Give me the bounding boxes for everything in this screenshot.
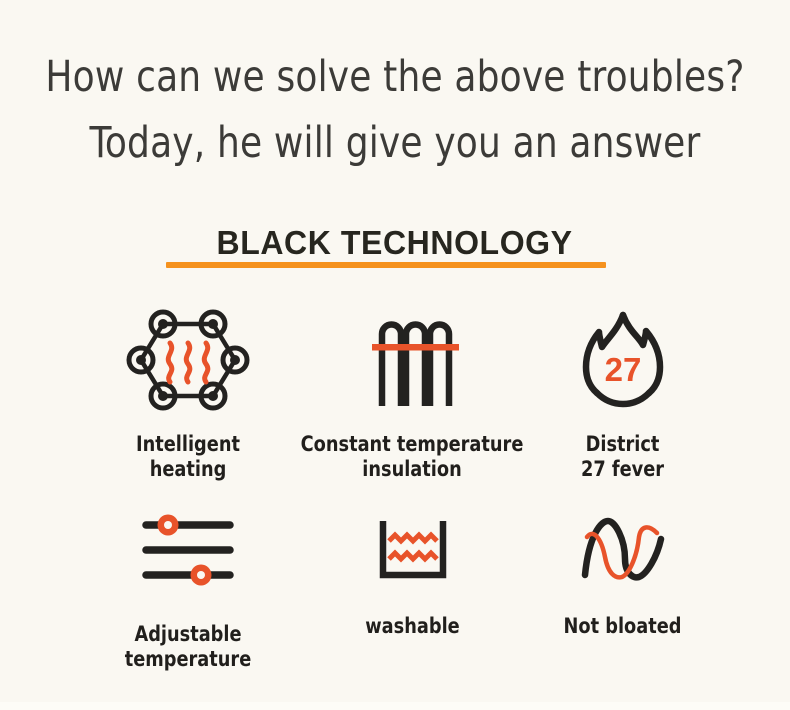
feature-constant-temperature-insulation: Constant temperature insulation bbox=[282, 300, 542, 482]
feature-label-line-2: insulation bbox=[290, 457, 534, 482]
feature-label: Not bloated bbox=[545, 614, 700, 639]
slider-knob-bottom bbox=[191, 565, 212, 586]
wave-curves-icon bbox=[545, 500, 700, 600]
feature-label-line-2: temperature bbox=[113, 647, 263, 672]
page-headline: How can we solve the above troubles? Tod… bbox=[28, 44, 763, 176]
promo-page: How can we solve the above troubles? Tod… bbox=[0, 0, 790, 710]
feature-label-line-1: Constant temperature bbox=[290, 432, 534, 457]
feature-label: Intelligent heating bbox=[108, 432, 268, 482]
feature-washable: washable bbox=[300, 500, 525, 639]
feature-row-2: Adjustable temperature bbox=[0, 500, 790, 695]
feature-label-line-1: Intelligent bbox=[113, 432, 263, 457]
feature-not-bloated: Not bloated bbox=[545, 500, 700, 639]
radiator-coil-icon bbox=[282, 300, 542, 420]
feature-label: Adjustable temperature bbox=[108, 622, 268, 672]
headline-line-2: Today, he will give you an answer bbox=[28, 110, 763, 176]
slider-knob-top bbox=[158, 515, 179, 536]
bottom-strip bbox=[0, 702, 790, 710]
feature-label: washable bbox=[300, 614, 525, 639]
feature-label: District 27 fever bbox=[545, 432, 700, 482]
wash-basin-icon bbox=[300, 500, 525, 600]
section-title-underline bbox=[166, 262, 606, 268]
section-title-container: BLACK TECHNOLOGY bbox=[0, 224, 790, 262]
feature-district-27-fever: 27 District 27 fever bbox=[545, 300, 700, 482]
section-title: BLACK TECHNOLOGY bbox=[217, 224, 573, 262]
feature-label-line-1: District bbox=[550, 432, 696, 457]
feature-row-1: Intelligent heating bbox=[0, 300, 790, 500]
slider-controls-icon bbox=[108, 500, 268, 600]
hexagon-heating-icon bbox=[108, 300, 268, 420]
feature-intelligent-heating: Intelligent heating bbox=[108, 300, 268, 482]
flame-27-icon: 27 bbox=[545, 300, 700, 420]
feature-label-line-1: Adjustable bbox=[113, 622, 263, 647]
headline-line-1: How can we solve the above troubles? bbox=[45, 52, 744, 102]
flame-badge-value: 27 bbox=[604, 351, 641, 388]
feature-adjustable-temperature: Adjustable temperature bbox=[108, 500, 268, 672]
feature-label-line-1: washable bbox=[307, 614, 519, 639]
feature-label-line-2: 27 fever bbox=[550, 457, 696, 482]
feature-label: Constant temperature insulation bbox=[282, 432, 542, 482]
feature-grid: Intelligent heating bbox=[0, 300, 790, 695]
feature-label-line-1: Not bloated bbox=[550, 614, 696, 639]
feature-label-line-2: heating bbox=[113, 457, 263, 482]
